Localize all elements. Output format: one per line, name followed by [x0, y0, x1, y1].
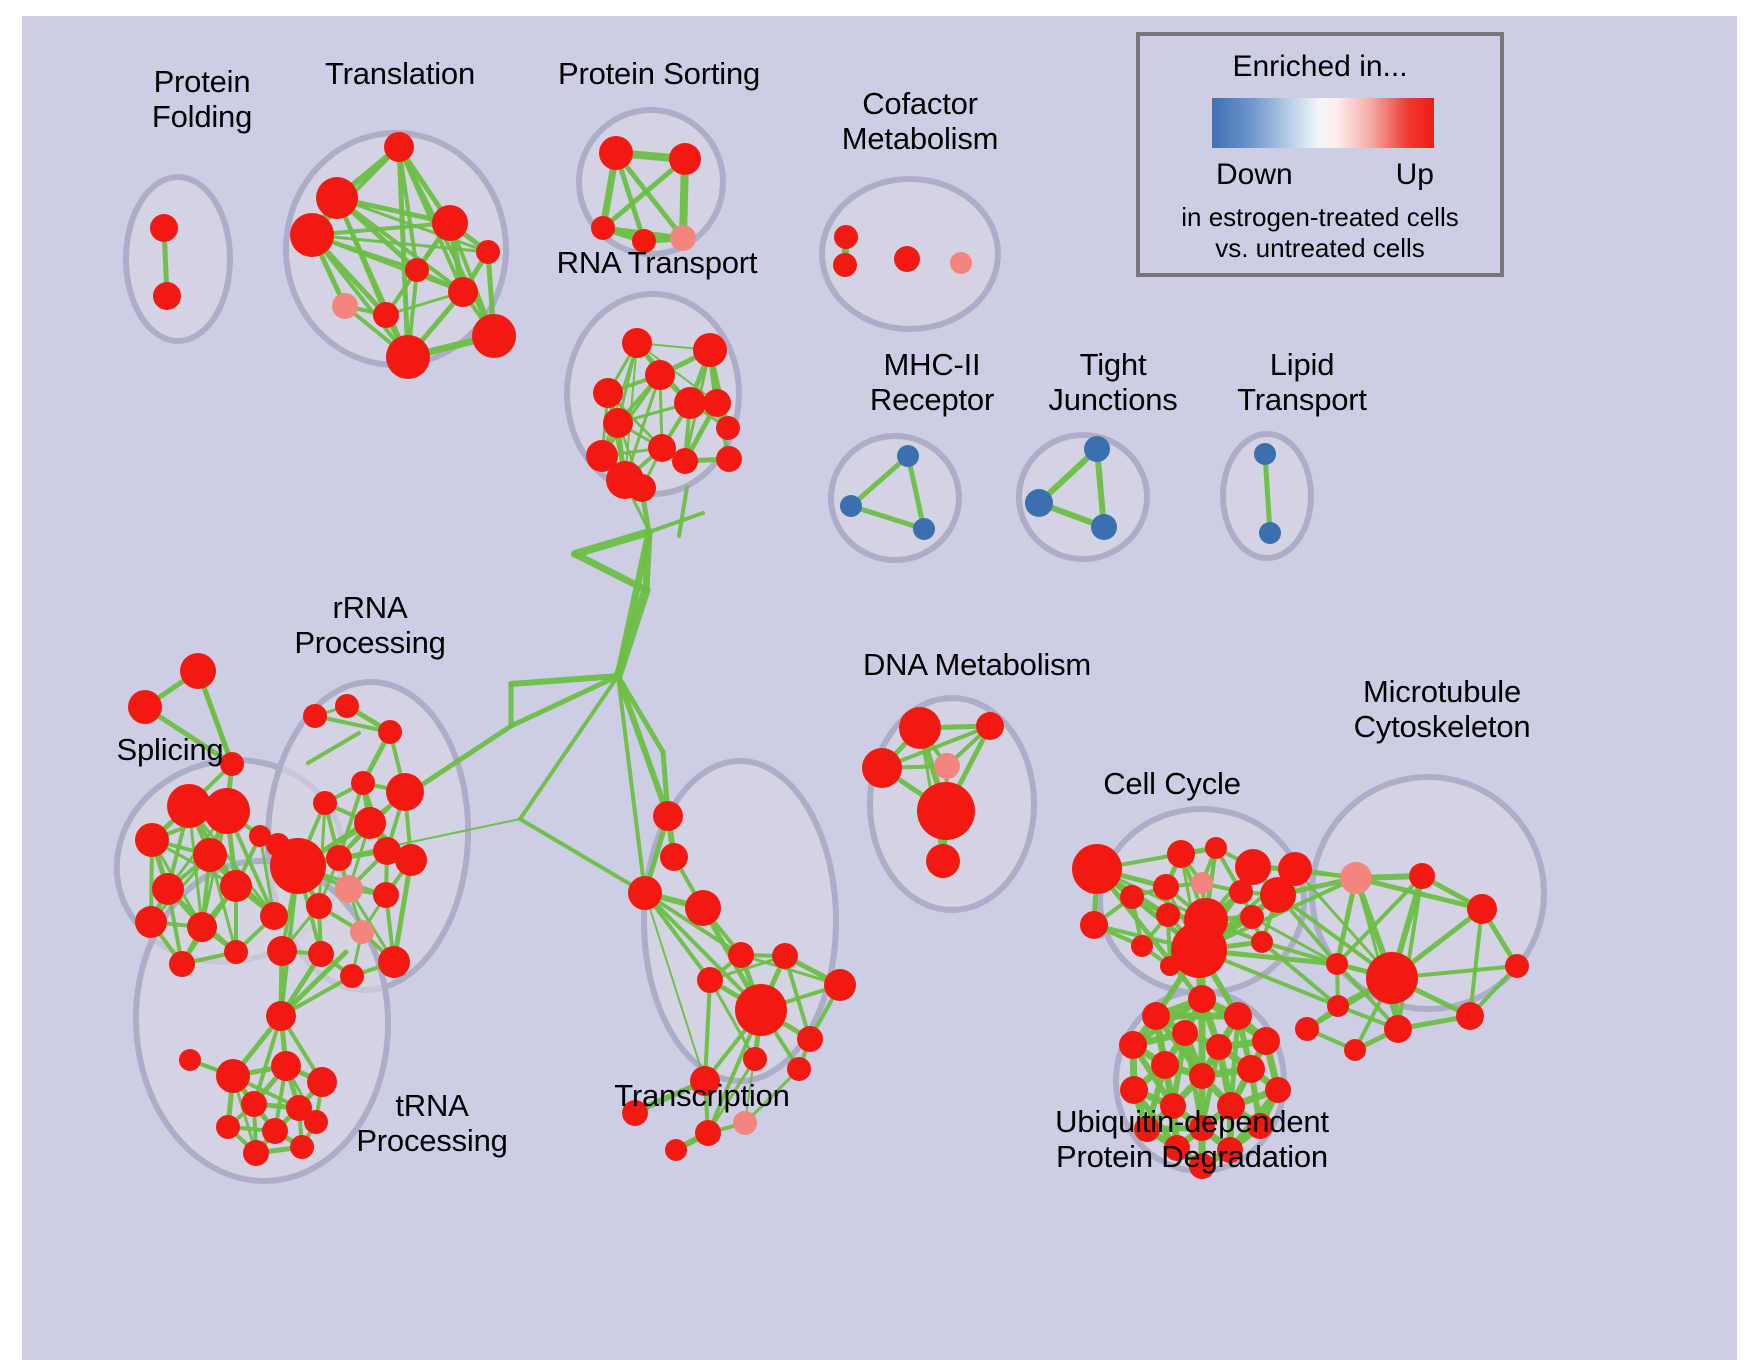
node-rrna-processing-14[interactable]: [350, 920, 374, 944]
node-dna-metabolism-2[interactable]: [862, 748, 902, 788]
node-microtubule-cytoskeleton-0[interactable]: [1340, 862, 1372, 894]
node-microtubule-cytoskeleton-8[interactable]: [1295, 1017, 1319, 1041]
node-microtubule-cytoskeleton-3[interactable]: [1326, 953, 1348, 975]
node-rrna-processing-19[interactable]: [340, 964, 364, 988]
node-trna-processing-1[interactable]: [216, 1059, 250, 1093]
node-rrna-processing-7[interactable]: [270, 838, 326, 894]
node-transcription-1[interactable]: [660, 843, 688, 871]
node-cell-cycle-13[interactable]: [1080, 911, 1108, 939]
node-tight-junctions-0[interactable]: [1084, 436, 1110, 462]
node-ubiquitin-degradation-3[interactable]: [1119, 1031, 1147, 1059]
node-mhc-ii-receptor-0[interactable]: [897, 445, 919, 467]
node-mhc-ii-receptor-1[interactable]: [840, 495, 862, 517]
node-transcription-15[interactable]: [665, 1139, 687, 1161]
inter-cluster-edge: [575, 532, 649, 554]
cluster-label-translation: Translation: [280, 56, 520, 91]
node-splicing-4[interactable]: [204, 788, 250, 834]
node-ubiquitin-degradation-2[interactable]: [1224, 1002, 1252, 1030]
node-cell-cycle-5[interactable]: [1153, 874, 1179, 900]
cluster-label-cofactor-metabolism: Cofactor Metabolism: [802, 86, 1038, 156]
node-transcription-7[interactable]: [824, 969, 856, 1001]
cluster-label-microtubule-cytoskeleton: Microtubule Cytoskeleton: [1302, 674, 1582, 744]
node-trna-processing-7[interactable]: [262, 1118, 288, 1144]
node-rrna-processing-15[interactable]: [308, 941, 334, 967]
node-tight-junctions-1[interactable]: [1025, 489, 1053, 517]
cluster-label-rrna-processing: rRNA Processing: [260, 590, 480, 660]
node-translation-6[interactable]: [448, 277, 478, 307]
node-protein-folding-0[interactable]: [150, 214, 178, 242]
node-transcription-8[interactable]: [735, 984, 787, 1036]
node-translation-8[interactable]: [373, 302, 399, 328]
cluster-halo-protein-folding: [126, 177, 230, 341]
node-lipid-transport-1[interactable]: [1259, 522, 1281, 544]
cluster-label-protein-folding: Protein Folding: [102, 64, 302, 134]
node-protein-sorting-0[interactable]: [599, 136, 633, 170]
node-translation-1[interactable]: [316, 177, 358, 219]
node-rna-transport-12[interactable]: [716, 416, 740, 440]
node-ubiquitin-degradation-9[interactable]: [1189, 1063, 1215, 1089]
node-rna-transport-3[interactable]: [645, 360, 675, 390]
node-cell-cycle-1[interactable]: [1205, 837, 1227, 859]
cluster-label-ubiquitin-degradation: Ubiquitin-dependent Protein Degradation: [1022, 1104, 1362, 1174]
node-ubiquitin-degradation-1[interactable]: [1142, 1002, 1170, 1030]
node-translation-0[interactable]: [384, 132, 414, 162]
node-transcription-4[interactable]: [728, 942, 754, 968]
node-translation-10[interactable]: [386, 335, 430, 379]
cluster-label-mhc-ii-receptor: MHC-II Receptor: [822, 347, 1042, 417]
node-protein-sorting-1[interactable]: [669, 143, 701, 175]
node-splicing-0[interactable]: [180, 653, 216, 689]
node-cofactor-metabolism-0[interactable]: [834, 225, 858, 249]
node-splicing-10[interactable]: [135, 906, 167, 938]
node-rrna-processing-4[interactable]: [386, 773, 424, 811]
node-microtubule-cytoskeleton-4[interactable]: [1366, 952, 1418, 1004]
node-cell-cycle-9[interactable]: [1120, 885, 1144, 909]
node-rna-transport-1[interactable]: [693, 333, 727, 367]
node-cell-cycle-17[interactable]: [1160, 956, 1180, 976]
node-cell-cycle-0[interactable]: [1167, 840, 1195, 868]
node-splicing-13[interactable]: [224, 940, 248, 964]
node-rna-transport-13[interactable]: [628, 474, 656, 502]
node-rrna-processing-5[interactable]: [313, 791, 337, 815]
node-rna-transport-7[interactable]: [648, 434, 676, 462]
node-splicing-12[interactable]: [260, 902, 288, 930]
node-rrna-processing-11[interactable]: [306, 893, 332, 919]
node-ubiquitin-degradation-5[interactable]: [1252, 1027, 1280, 1055]
node-transcription-16[interactable]: [733, 1111, 757, 1135]
node-rna-transport-11[interactable]: [716, 446, 742, 472]
inter-cluster-edge: [679, 487, 687, 536]
inter-cluster-edge: [649, 513, 703, 532]
node-transcription-10[interactable]: [743, 1047, 767, 1071]
node-protein-sorting-2[interactable]: [591, 216, 615, 240]
legend-caption: in estrogen-treated cells vs. untreated …: [1140, 202, 1500, 264]
node-ubiquitin-degradation-0[interactable]: [1188, 985, 1216, 1013]
cluster-label-tight-junctions: Tight Junctions: [1010, 347, 1216, 417]
node-trna-processing-10[interactable]: [290, 1135, 314, 1159]
node-lipid-transport-0[interactable]: [1254, 443, 1276, 465]
node-rrna-processing-6[interactable]: [354, 807, 386, 839]
node-dna-metabolism-5[interactable]: [926, 844, 960, 878]
inter-cluster-edge: [520, 819, 645, 893]
node-rna-transport-2[interactable]: [703, 389, 731, 417]
node-cell-cycle-10[interactable]: [1156, 903, 1180, 927]
node-splicing-9[interactable]: [220, 870, 252, 902]
node-transcription-0[interactable]: [653, 801, 683, 831]
node-rrna-processing-10[interactable]: [335, 875, 363, 903]
node-rrna-processing-17[interactable]: [267, 936, 297, 966]
node-transcription-5[interactable]: [772, 943, 798, 969]
node-translation-9[interactable]: [472, 314, 516, 358]
node-transcription-13[interactable]: [695, 1120, 721, 1146]
node-dna-metabolism-0[interactable]: [899, 707, 941, 749]
cluster-label-trna-processing: tRNA Processing: [322, 1088, 542, 1158]
node-rrna-processing-13[interactable]: [395, 844, 427, 876]
node-dna-metabolism-3[interactable]: [934, 753, 960, 779]
cluster-label-rna-transport: RNA Transport: [507, 245, 807, 280]
legend-up-label: Up: [1396, 158, 1434, 192]
node-rrna-processing-16[interactable]: [378, 946, 410, 978]
cluster-label-cell-cycle: Cell Cycle: [1067, 766, 1277, 801]
node-cell-cycle-12[interactable]: [1240, 905, 1264, 929]
node-rna-transport-0[interactable]: [622, 328, 652, 358]
node-trna-processing-6[interactable]: [216, 1115, 240, 1139]
node-cofactor-metabolism-2[interactable]: [894, 246, 920, 272]
node-translation-4[interactable]: [476, 240, 500, 264]
node-cell-cycle-3[interactable]: [1235, 849, 1271, 885]
node-splicing-8[interactable]: [152, 873, 184, 905]
node-microtubule-cytoskeleton-6[interactable]: [1456, 1002, 1484, 1030]
node-rna-transport-6[interactable]: [603, 408, 633, 438]
legend-down-label: Down: [1216, 158, 1293, 192]
node-translation-7[interactable]: [332, 293, 358, 319]
cluster-label-dna-metabolism: DNA Metabolism: [832, 647, 1122, 682]
node-dna-metabolism-1[interactable]: [976, 712, 1004, 740]
node-microtubule-cytoskeleton-7[interactable]: [1384, 1015, 1412, 1043]
node-rrna-processing-18[interactable]: [266, 1001, 296, 1031]
node-transcription-3[interactable]: [685, 890, 721, 926]
node-rrna-processing-2[interactable]: [303, 704, 327, 728]
node-ubiquitin-degradation-10[interactable]: [1120, 1076, 1148, 1104]
node-splicing-3[interactable]: [167, 784, 211, 828]
node-translation-2[interactable]: [432, 205, 468, 241]
node-transcription-9[interactable]: [797, 1026, 823, 1052]
node-splicing-6[interactable]: [193, 838, 227, 872]
cluster-label-splicing: Splicing: [80, 732, 260, 767]
node-rrna-processing-12[interactable]: [373, 882, 399, 908]
node-tight-junctions-2[interactable]: [1091, 514, 1117, 540]
node-cofactor-metabolism-1[interactable]: [833, 253, 857, 277]
node-trna-processing-9[interactable]: [243, 1140, 269, 1166]
node-translation-3[interactable]: [290, 213, 334, 257]
node-splicing-14[interactable]: [169, 951, 195, 977]
node-trna-processing-2[interactable]: [271, 1051, 301, 1081]
node-rna-transport-9[interactable]: [672, 448, 698, 474]
node-rrna-processing-3[interactable]: [351, 771, 375, 795]
node-trna-processing-4[interactable]: [241, 1091, 267, 1117]
legend-color-gradient-bar: [1212, 98, 1434, 148]
legend-panel: Enriched in... Down Up in estrogen-treat…: [1136, 32, 1504, 277]
node-ubiquitin-degradation-7[interactable]: [1151, 1051, 1179, 1079]
node-rna-transport-5[interactable]: [593, 378, 623, 408]
node-ubiquitin-degradation-6[interactable]: [1206, 1034, 1232, 1060]
node-mhc-ii-receptor-2[interactable]: [913, 518, 935, 540]
node-transcription-6[interactable]: [697, 967, 723, 993]
node-protein-folding-1[interactable]: [153, 282, 181, 310]
node-microtubule-cytoskeleton-9[interactable]: [1344, 1039, 1366, 1061]
node-microtubule-cytoskeleton-5[interactable]: [1327, 995, 1349, 1017]
node-rna-transport-4[interactable]: [674, 387, 706, 419]
node-cell-cycle-6[interactable]: [1191, 872, 1213, 894]
node-microtubule-cytoskeleton-10[interactable]: [1505, 954, 1529, 978]
node-ubiquitin-degradation-8[interactable]: [1237, 1055, 1265, 1083]
node-transcription-2[interactable]: [628, 876, 662, 910]
node-ubiquitin-degradation-4[interactable]: [1172, 1020, 1198, 1046]
node-splicing-11[interactable]: [187, 912, 217, 942]
legend-title: Enriched in...: [1140, 50, 1500, 84]
node-cell-cycle-14[interactable]: [1171, 922, 1227, 978]
node-microtubule-cytoskeleton-2[interactable]: [1467, 894, 1497, 924]
node-rrna-processing-0[interactable]: [335, 694, 359, 718]
node-cell-cycle-15[interactable]: [1131, 935, 1153, 957]
node-cell-cycle-2[interactable]: [1072, 844, 1122, 894]
node-cofactor-metabolism-3[interactable]: [950, 252, 972, 274]
node-splicing-5[interactable]: [135, 823, 169, 857]
node-splicing-1[interactable]: [128, 690, 162, 724]
node-ubiquitin-degradation-11[interactable]: [1265, 1077, 1291, 1103]
cluster-label-transcription: Transcription: [577, 1078, 827, 1113]
node-cell-cycle-8[interactable]: [1260, 877, 1296, 913]
cluster-label-lipid-transport: Lipid Transport: [1202, 347, 1402, 417]
node-rrna-processing-1[interactable]: [378, 720, 402, 744]
cluster-label-protein-sorting: Protein Sorting: [509, 56, 809, 91]
node-translation-5[interactable]: [405, 258, 429, 282]
node-rrna-processing-8[interactable]: [326, 845, 352, 871]
node-microtubule-cytoskeleton-1[interactable]: [1409, 863, 1435, 889]
node-dna-metabolism-4[interactable]: [917, 782, 975, 840]
figure-root: Protein FoldingTranslationProtein Sortin…: [0, 0, 1750, 1360]
node-trna-processing-0[interactable]: [179, 1049, 201, 1071]
node-cell-cycle-16[interactable]: [1251, 931, 1273, 953]
network-canvas: Protein FoldingTranslationProtein Sortin…: [22, 16, 1737, 1360]
node-cell-cycle-7[interactable]: [1229, 880, 1253, 904]
